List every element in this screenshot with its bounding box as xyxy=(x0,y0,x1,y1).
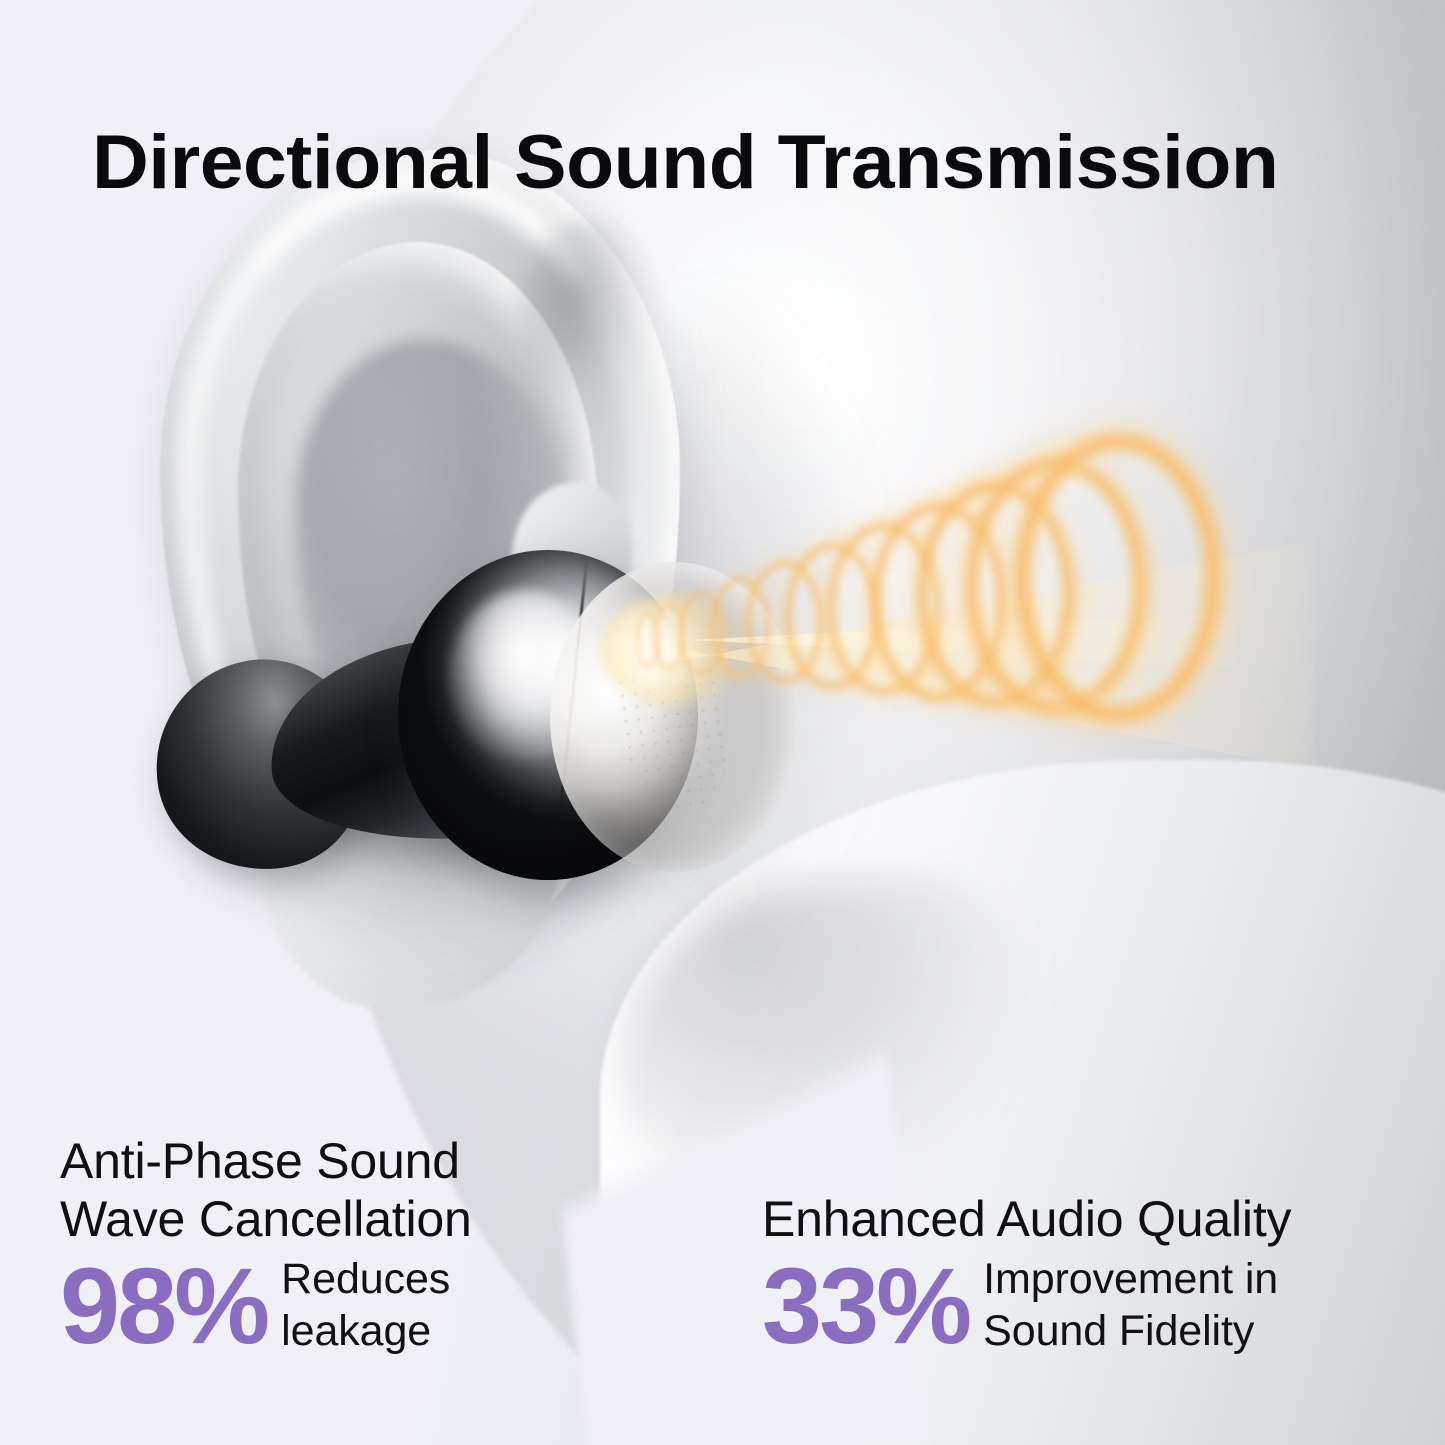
stat-note-line-1: Improvement in xyxy=(983,1254,1278,1306)
stat-percent-anti-phase: 98% xyxy=(60,1252,267,1360)
page-title: Directional Sound Transmission xyxy=(92,125,1417,201)
stat-heading-line-2: Wave Cancellation xyxy=(60,1190,620,1248)
stat-value-row-anti-phase: 98% Reduces leakage xyxy=(60,1252,620,1360)
stat-note-line-1: Reduces xyxy=(281,1254,450,1306)
stat-card-anti-phase: Anti-Phase Sound Wave Cancellation 98% R… xyxy=(60,1132,620,1360)
stat-value-row-audio-quality: 33% Improvement in Sound Fidelity xyxy=(762,1252,1402,1360)
stat-heading-line-1: Enhanced Audio Quality xyxy=(762,1190,1402,1248)
ear-crus-shadow xyxy=(518,220,648,410)
stat-note-anti-phase: Reduces leakage xyxy=(281,1254,450,1357)
stat-note-line-2: Sound Fidelity xyxy=(983,1306,1278,1358)
stat-note-audio-quality: Improvement in Sound Fidelity xyxy=(983,1254,1278,1357)
stat-heading-audio-quality: Enhanced Audio Quality xyxy=(762,1190,1402,1248)
stat-heading-anti-phase: Anti-Phase Sound Wave Cancellation xyxy=(60,1132,620,1248)
stat-heading-line-1: Anti-Phase Sound xyxy=(60,1132,620,1190)
stat-note-line-2: leakage xyxy=(281,1306,450,1358)
stat-percent-audio-quality: 33% xyxy=(762,1252,969,1360)
product-feature-infographic: Directional Sound Transmission Anti-Phas… xyxy=(0,0,1445,1445)
open-ear-clip-earbud xyxy=(150,520,710,920)
stat-card-audio-quality: Enhanced Audio Quality 33% Improvement i… xyxy=(762,1190,1402,1360)
